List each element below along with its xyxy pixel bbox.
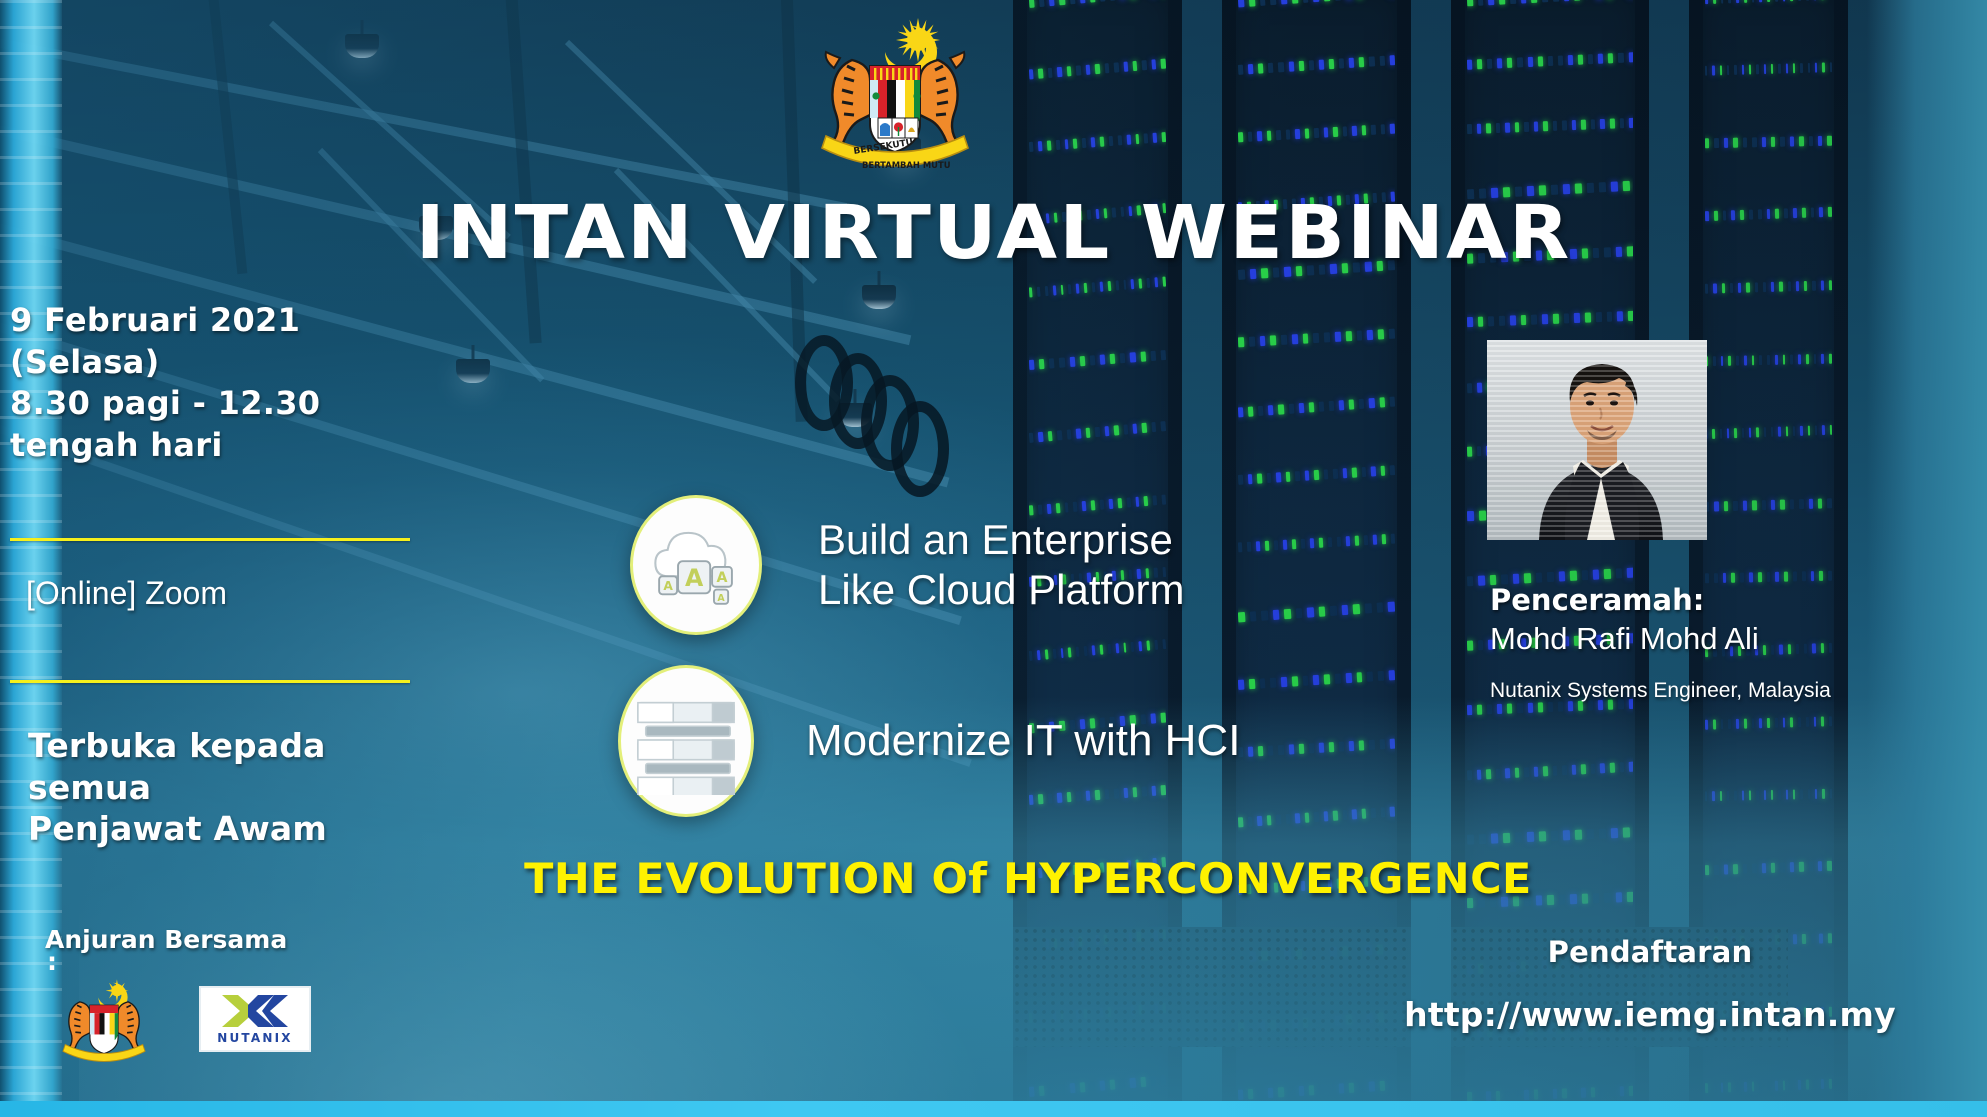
- feature-cloud-text: Build an Enterprise Like Cloud Platform: [818, 515, 1185, 614]
- audience-line-2: Penjawat Awam: [28, 808, 440, 849]
- feature-row-hci: Modernize IT with HCI: [618, 665, 1240, 817]
- malaysia-coat-of-arms-icon: BERSEKUTU BERTAMBAH MUTU: [790, 8, 1000, 173]
- speaker-label: Penceramah:: [1490, 583, 1970, 617]
- nutanix-mark-icon: [218, 993, 292, 1029]
- event-details-column: 9 Februari 2021 (Selasa) 8.30 pagi - 12.…: [10, 300, 440, 849]
- speaker-name: Mohd Rafi Mohd Ali: [1490, 621, 1970, 657]
- feature-hci-line-1: Modernize IT with HCI: [806, 715, 1240, 767]
- webinar-poster: BERSEKUTU BERTAMBAH MUTU INTAN VIRTUAL W…: [0, 0, 1987, 1117]
- poster-title: INTAN VIRTUAL WEBINAR: [0, 190, 1987, 276]
- svg-text:A: A: [663, 579, 673, 593]
- nutanix-logo: NUTANIX: [199, 986, 311, 1052]
- event-date: 9 Februari 2021 (Selasa): [10, 300, 440, 383]
- speaker-role: Nutanix Systems Engineer, Malaysia: [1490, 679, 1970, 703]
- divider-top: [10, 538, 410, 541]
- server-stack-icon: [618, 665, 754, 817]
- speaker-info: Penceramah: Mohd Rafi Mohd Ali Nutanix S…: [1490, 583, 1970, 703]
- svg-text:A: A: [685, 564, 704, 592]
- registration-label: Pendaftaran: [1330, 935, 1970, 969]
- svg-text:A: A: [717, 570, 728, 586]
- feature-cloud-line-2: Like Cloud Platform: [818, 565, 1185, 615]
- event-time: 8.30 pagi - 12.30 tengah hari: [10, 383, 440, 466]
- photo-scanline-texture: [1487, 340, 1707, 540]
- speaker-photo: [1487, 340, 1707, 540]
- organisers-colon: :: [47, 954, 445, 969]
- organisers-block: Anjuran Bersama :: [45, 925, 445, 1067]
- audience-line-1: Terbuka kepada semua: [28, 725, 440, 808]
- svg-text:BERTAMBAH MUTU: BERTAMBAH MUTU: [862, 160, 951, 170]
- poster-tagline: THE EVOLUTION Of HYPERCONVERGENCE: [524, 854, 1532, 903]
- registration-url[interactable]: http://www.iemg.intan.my: [1330, 995, 1970, 1034]
- svg-text:A: A: [717, 593, 725, 604]
- malaysia-coat-of-arms-logo: [45, 971, 163, 1067]
- feature-cloud-line-1: Build an Enterprise: [818, 515, 1185, 565]
- feature-hci-text: Modernize IT with HCI: [806, 715, 1240, 767]
- cloud-apps-icon: A A A A: [630, 495, 762, 635]
- organisers-label: Anjuran Bersama: [45, 925, 445, 954]
- registration-block: Pendaftaran http://www.iemg.intan.my: [1330, 935, 1970, 1034]
- event-venue: [Online] Zoom: [26, 575, 440, 612]
- feature-row-cloud: A A A A Build an Enterprise Like Cloud P…: [630, 495, 1185, 635]
- nutanix-wordmark: NUTANIX: [217, 1031, 293, 1045]
- divider-bottom: [10, 680, 410, 683]
